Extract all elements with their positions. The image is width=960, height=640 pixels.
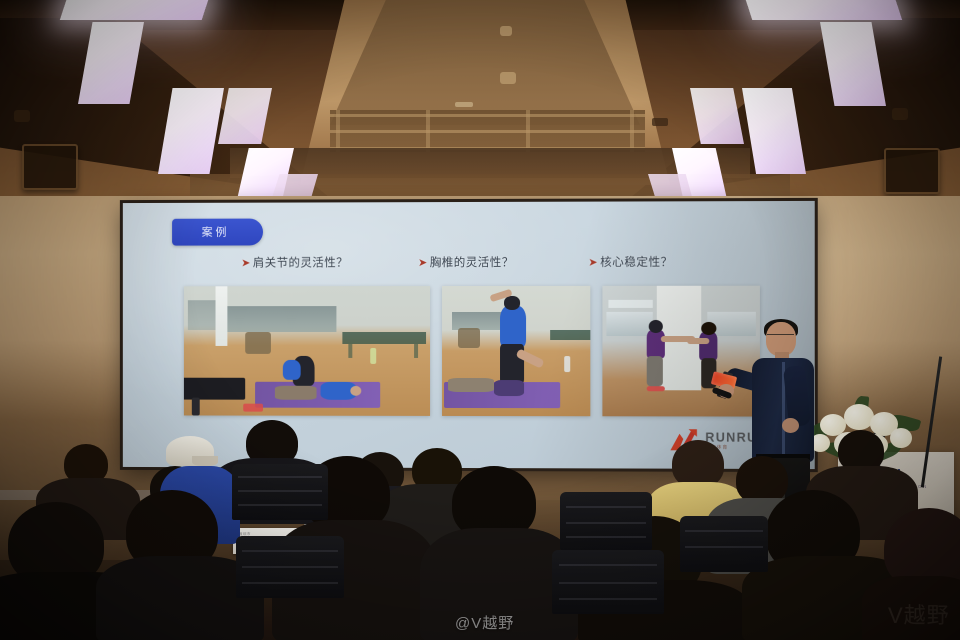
surveillance-camera [14, 110, 30, 122]
ceiling-light-panel [744, 0, 902, 20]
ceiling-speaker-mount [892, 108, 908, 120]
slide-bullet-2-text: 胸椎的灵活性？ [430, 257, 514, 269]
slide-bullet-2: ➤胸椎的灵活性？ [418, 254, 514, 270]
ceiling-fixture [652, 118, 668, 126]
slide-image-panels [184, 286, 760, 417]
bullet-arrow-icon: ➤ [418, 257, 428, 269]
audience [0, 404, 960, 640]
audience-chair [560, 492, 652, 550]
ceiling-vent [455, 102, 473, 107]
sprinkler-head [500, 26, 512, 36]
bullet-arrow-icon: ➤ [241, 257, 251, 269]
slide-bullet-3: ➤核心稳定性？ [588, 254, 672, 270]
bullet-arrow-icon: ➤ [588, 257, 598, 269]
audience-head [736, 456, 788, 504]
watermark-primary: @V越野 [455, 612, 514, 633]
slide-bullet-3-text: 核心稳定性？ [600, 257, 673, 269]
slide-title-text: 案例 [202, 227, 230, 239]
cap-brim [192, 456, 218, 466]
audience-chair [236, 536, 344, 598]
smoke-detector [500, 72, 516, 84]
watermark-secondary: V越野 [888, 598, 950, 630]
audience-head [672, 440, 724, 488]
slide-bullet-1-text: 肩关节的灵活性？ [253, 257, 348, 269]
audience-chair [552, 550, 664, 614]
slide-photo-3 [602, 286, 760, 417]
slide-title-banner: 案例 [172, 219, 263, 246]
wall-speaker-right [884, 148, 940, 194]
glasses-icon [767, 334, 794, 341]
slide-bullet-list: ➤肩关节的灵活性？ ➤胸椎的灵活性？ ➤核心稳定性？ [123, 253, 815, 282]
audience-chair [232, 464, 328, 520]
slide-bullet-1: ➤肩关节的灵活性？ [241, 254, 348, 270]
ceiling-light-panel [60, 0, 210, 20]
slide-photo-2 [442, 286, 590, 416]
balcony-railing [330, 110, 645, 152]
slide-photo-1 [184, 286, 430, 416]
photo-scene: 案例 ➤肩关节的灵活性？ ➤胸椎的灵活性？ ➤核心稳定性？ [0, 0, 960, 640]
wall-speaker-left [22, 144, 78, 190]
audience-chair [680, 516, 768, 572]
